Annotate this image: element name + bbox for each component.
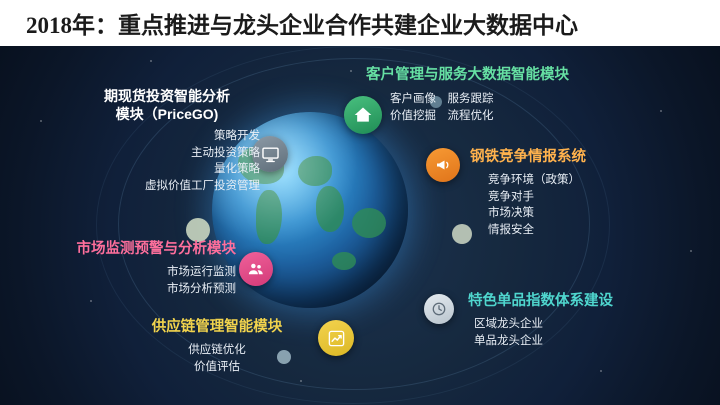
module-pricego-item: 量化策略: [74, 161, 260, 178]
module-pricego-item: 策略开发: [74, 128, 260, 145]
star-dot: [600, 370, 602, 372]
chart-up-icon[interactable]: [318, 320, 354, 356]
module-customer-heading: 客户管理与服务大数据智能模块: [366, 66, 666, 84]
megaphone-icon[interactable]: [426, 148, 460, 182]
module-market: 市场监测预警与分析模块 市场运行监测 市场分析预测: [20, 240, 236, 297]
module-steel-item: 市场决策: [470, 205, 690, 222]
module-supply: 供应链管理智能模块 供应链优化 价值评估: [122, 318, 312, 375]
star-dot: [690, 250, 692, 252]
page-title: 2018年：重点推进与龙头企业合作共建企业大数据中心: [0, 6, 578, 40]
title-bar: 2018年：重点推进与龙头企业合作共建企业大数据中心: [0, 0, 720, 46]
clock-icon[interactable]: [424, 294, 454, 324]
module-pricego-item: 虚拟价值工厂投资管理: [74, 178, 260, 195]
decor-bubble: [186, 218, 210, 242]
star-dot: [150, 60, 152, 62]
module-pricego-heading-line1: 期现货投资智能分析: [74, 88, 260, 106]
module-customer-item: 客户画像 服务跟踪: [366, 91, 666, 108]
slide-canvas: 2018年：重点推进与龙头企业合作共建企业大数据中心: [0, 0, 720, 405]
module-market-item: 市场运行监测: [20, 264, 236, 281]
module-pricego: 期现货投资智能分析 模块（PriceGO) 策略开发 主动投资策略 量化策略 虚…: [74, 88, 260, 195]
module-supply-item: 供应链优化: [122, 342, 312, 359]
decor-bubble: [452, 224, 472, 244]
module-pricego-heading-line2: 模块（PriceGO): [74, 106, 260, 124]
module-supply-heading: 供应链管理智能模块: [122, 318, 312, 336]
module-market-heading: 市场监测预警与分析模块: [20, 240, 236, 258]
star-dot: [90, 300, 92, 302]
module-index: 特色单品指数体系建设 区域龙头企业 单品龙头企业: [468, 292, 696, 349]
module-steel-item: 情报安全: [470, 222, 690, 239]
module-steel: 钢铁竞争情报系统 竞争环境（政策） 竞争对手 市场决策 情报安全: [470, 148, 690, 239]
module-index-item: 单品龙头企业: [468, 333, 696, 350]
module-index-heading: 特色单品指数体系建设: [468, 292, 696, 310]
star-dot: [40, 120, 42, 122]
module-steel-heading: 钢铁竞争情报系统: [470, 148, 690, 166]
module-market-item: 市场分析预测: [20, 281, 236, 298]
module-customer-item: 价值挖掘 流程优化: [366, 108, 666, 125]
module-pricego-item: 主动投资策略: [74, 145, 260, 162]
module-supply-item: 价值评估: [122, 359, 312, 376]
module-steel-item: 竞争环境（政策）: [470, 172, 690, 189]
people-icon[interactable]: [239, 252, 273, 286]
module-index-item: 区域龙头企业: [468, 316, 696, 333]
module-customer: 客户管理与服务大数据智能模块 客户画像 服务跟踪 价值挖掘 流程优化: [366, 66, 666, 124]
module-steel-item: 竞争对手: [470, 189, 690, 206]
